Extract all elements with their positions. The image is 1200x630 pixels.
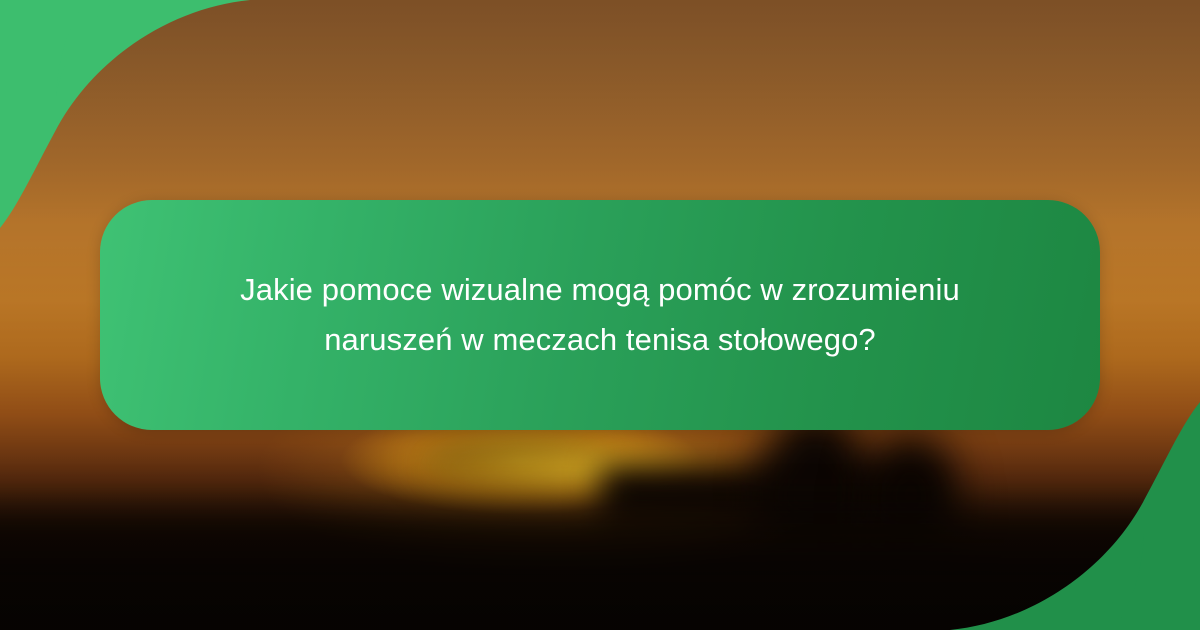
quote-card-canvas: Jakie pomoce wizualne mogą pomóc w zrozu… xyxy=(0,0,1200,630)
quote-text: Jakie pomoce wizualne mogą pomóc w zrozu… xyxy=(160,265,1040,365)
quote-card: Jakie pomoce wizualne mogą pomóc w zrozu… xyxy=(100,200,1100,430)
